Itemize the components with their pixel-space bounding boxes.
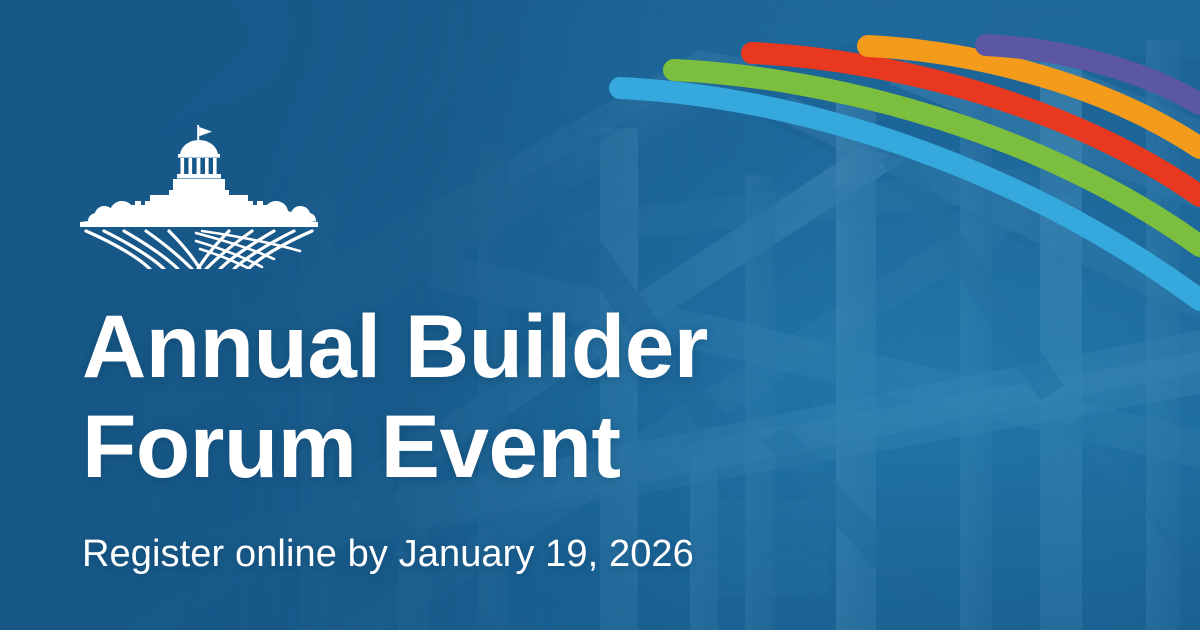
page-title: Annual Builder Forum Event [82,296,782,496]
event-banner: Annual Builder Forum Event Register onli… [0,0,1200,630]
capitol-dome-and-fields-logo [78,123,320,269]
headline-line-1: Annual Builder [82,296,708,396]
headline-line-2: Forum Event [82,396,782,496]
copy-block: Annual Builder Forum Event Register onli… [82,296,782,576]
orange-arc-path [868,46,1200,148]
registration-deadline-text: Register online by January 19, 2026 [82,532,782,576]
